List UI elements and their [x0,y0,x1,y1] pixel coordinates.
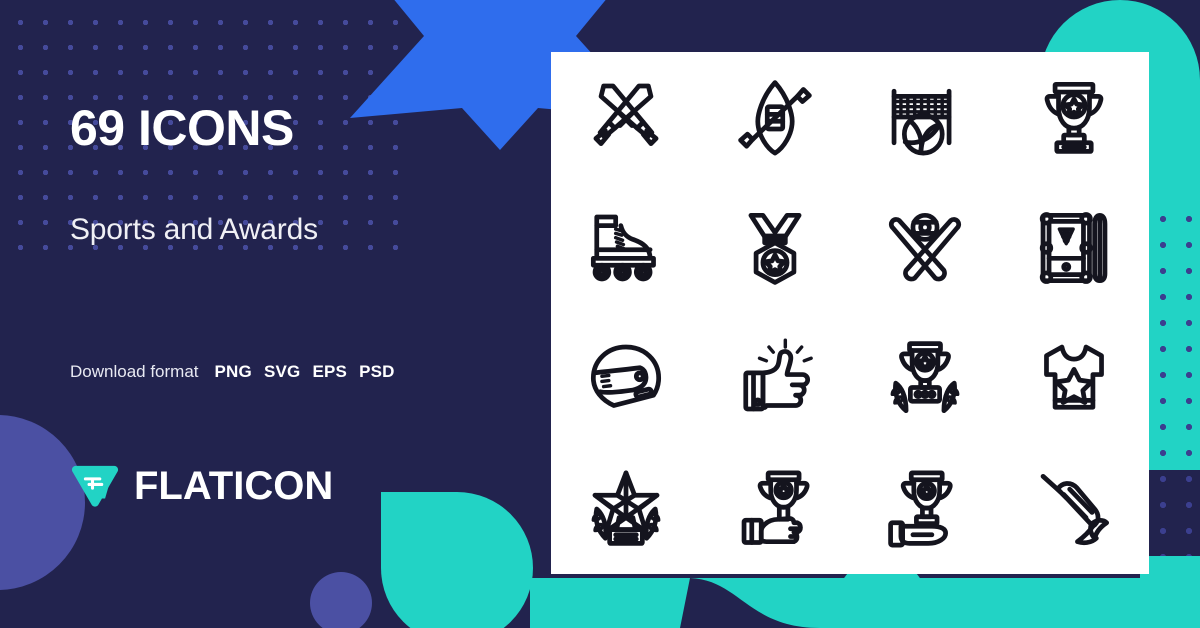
icon-cell-trophy-laurel[interactable] [850,313,1000,444]
download-format-list: PNG SVG EPS PSD [215,362,395,382]
icon-cell-star-award[interactable] [551,444,701,575]
pool-table-icon [1031,205,1117,291]
billiard-cues-icon [882,205,968,291]
volleyball-net-icon [882,74,968,160]
hand-holding-trophy-icon [732,466,818,552]
open-hand-trophy-icon [882,466,968,552]
format-eps: EPS [312,362,347,382]
icon-cell-roller-skate[interactable] [551,183,701,314]
medal-star-icon [732,205,818,291]
icon-cell-racing-helmet[interactable] [551,313,701,444]
icon-cell-star-tshirt[interactable] [1000,313,1150,444]
brand-logo: FLATICON [70,462,333,510]
kayak-icon [732,74,818,160]
javelin-icon [1031,466,1117,552]
roller-skate-icon [583,205,669,291]
trophy-star-icon [1031,74,1117,160]
icon-cell-thumbs-up[interactable] [701,313,851,444]
icon-preview-card [551,52,1149,574]
star-tshirt-icon [1031,335,1117,421]
download-format-label: Download format [70,362,199,382]
download-format-row: Download format PNG SVG EPS PSD [70,362,395,382]
star-award-icon [583,466,669,552]
banner-canvas: 69 ICONS Sports and Awards Download form… [0,0,1200,628]
format-svg: SVG [264,362,301,382]
icon-cell-medal-star[interactable] [701,183,851,314]
icon-cell-billiard-cues[interactable] [850,183,1000,314]
icon-cell-hand-holding-trophy[interactable] [701,444,851,575]
flaticon-logo-icon [70,462,120,510]
icon-grid [551,52,1149,574]
icon-cell-crossed-swords[interactable] [551,52,701,183]
page-title: 69 ICONS [70,103,294,153]
format-psd: PSD [359,362,395,382]
banner-text-column: 69 ICONS Sports and Awards Download form… [70,0,520,628]
icon-cell-volleyball-net[interactable] [850,52,1000,183]
thumbs-up-icon [732,335,818,421]
icon-cell-javelin[interactable] [1000,444,1150,575]
pack-subtitle: Sports and Awards [70,213,318,247]
racing-helmet-icon [583,335,669,421]
icon-cell-pool-table[interactable] [1000,183,1150,314]
icon-cell-kayak[interactable] [701,52,851,183]
crossed-swords-icon [583,74,669,160]
icon-cell-open-hand-trophy[interactable] [850,444,1000,575]
icon-cell-trophy-star[interactable] [1000,52,1150,183]
format-png: PNG [215,362,252,382]
trophy-laurel-icon [882,335,968,421]
brand-name: FLATICON [134,466,333,506]
